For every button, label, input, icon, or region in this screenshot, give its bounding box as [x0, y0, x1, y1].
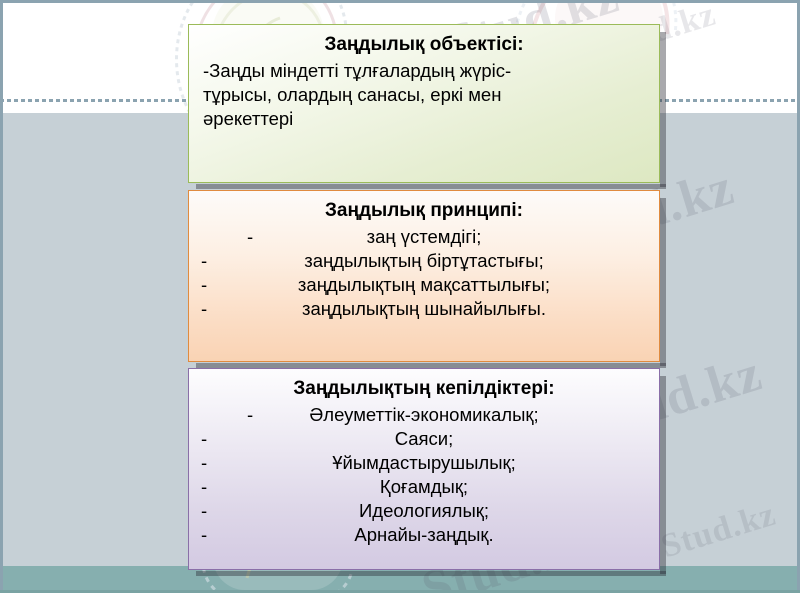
list-item-label: Идеологиялық; — [359, 500, 489, 521]
box-object-line: тұрысы, олардың санасы, еркі мен — [203, 83, 649, 107]
list-item: - Арнайы-заңдық. — [199, 523, 649, 547]
list-dash: - — [201, 523, 207, 547]
list-item: - Қоғамдық; — [199, 475, 649, 499]
box-shadow — [660, 32, 666, 187]
box-object-line: әрекеттері — [203, 107, 649, 131]
list-dash: - — [201, 273, 207, 297]
list-item: - Идеологиялық; — [199, 499, 649, 523]
box-object-line: -Заңды міндетті тұлғалардың жүріс- — [203, 59, 649, 83]
box-guarantees-title: Заңдылықтың кепілдіктері: — [199, 377, 649, 401]
box-principle-title: Заңдылық принципі: — [199, 199, 649, 223]
box-shadow — [660, 376, 666, 574]
box-object-title: Заңдылық объектісі: — [199, 33, 649, 57]
list-item: - заң үстемдігі; — [199, 225, 649, 249]
list-item-label: Ұйымдастырушылық; — [332, 452, 516, 473]
list-dash: - — [201, 475, 207, 499]
list-dash: - — [201, 451, 207, 475]
list-dash: - — [201, 297, 207, 321]
list-item-label: заңдылықтың мақсаттылығы; — [298, 274, 550, 295]
list-item-label: заңдылықтың біртұтастығы; — [304, 250, 543, 271]
list-item-label: заңдылықтың шынайылығы. — [302, 298, 546, 319]
list-dash: - — [247, 403, 253, 427]
list-item-label: Арнайы-заңдық. — [354, 524, 493, 545]
list-item-label: Әлеуметтік-экономикалық; — [309, 404, 538, 425]
list-item-label: заң үстемдігі; — [367, 226, 482, 247]
list-item: - заңдылықтың шынайылығы. — [199, 297, 649, 321]
list-dash: - — [201, 499, 207, 523]
list-item-label: Қоғамдық; — [380, 476, 468, 497]
content-box-guarantees[interactable]: Заңдылықтың кепілдіктері: - Әлеуметтік-э… — [188, 368, 660, 570]
box-shadow — [196, 571, 666, 576]
box-guarantees-body: - Әлеуметтік-экономикалық; - Саяси; - Ұй… — [199, 403, 649, 547]
box-shadow — [196, 184, 666, 189]
content-box-object[interactable]: Заңдылық объектісі: -Заңды міндетті тұлғ… — [188, 24, 660, 183]
list-item: - Ұйымдастырушылық; — [199, 451, 649, 475]
list-dash: - — [247, 225, 253, 249]
slide-frame-top — [0, 0, 800, 3]
list-dash: - — [201, 249, 207, 273]
list-item: - Әлеуметтік-экономикалық; — [199, 403, 649, 427]
box-shadow — [660, 198, 666, 366]
list-item: - Саяси; — [199, 427, 649, 451]
box-object-body: -Заңды міндетті тұлғалардың жүріс- тұрыс… — [199, 59, 649, 131]
list-item: - заңдылықтың біртұтастығы; — [199, 249, 649, 273]
box-principle-body: - заң үстемдігі; - заңдылықтың біртұтаст… — [199, 225, 649, 321]
list-item-label: Саяси; — [395, 428, 454, 449]
list-item: - заңдылықтың мақсаттылығы; — [199, 273, 649, 297]
slide-canvas: Stud.kz Stud.kz Stud.kz Stud.kz Stud.kz … — [0, 0, 800, 593]
content-box-principle[interactable]: Заңдылық принципі: - заң үстемдігі; - за… — [188, 190, 660, 362]
slide-frame-left — [0, 0, 3, 593]
list-dash: - — [201, 427, 207, 451]
